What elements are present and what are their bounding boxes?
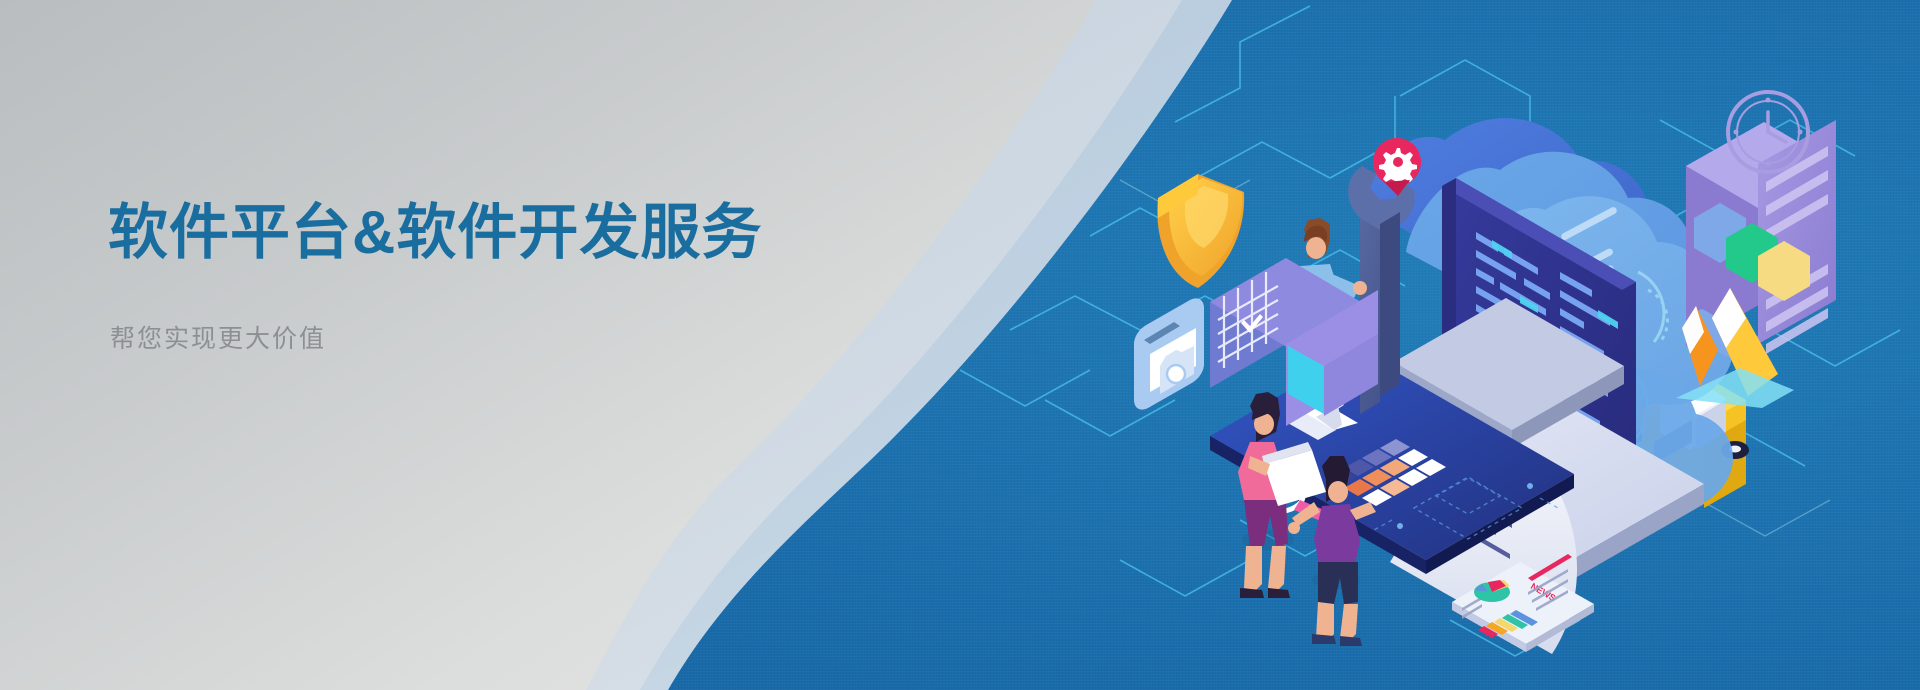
hero-banner: NEWS xyxy=(0,0,1920,690)
page-subtitle: 帮您实现更大价值 xyxy=(110,319,868,355)
headline-block: 软件平台&软件开发服务 帮您实现更大价值 xyxy=(108,198,868,355)
page-title: 软件平台&软件开发服务 xyxy=(108,198,868,269)
